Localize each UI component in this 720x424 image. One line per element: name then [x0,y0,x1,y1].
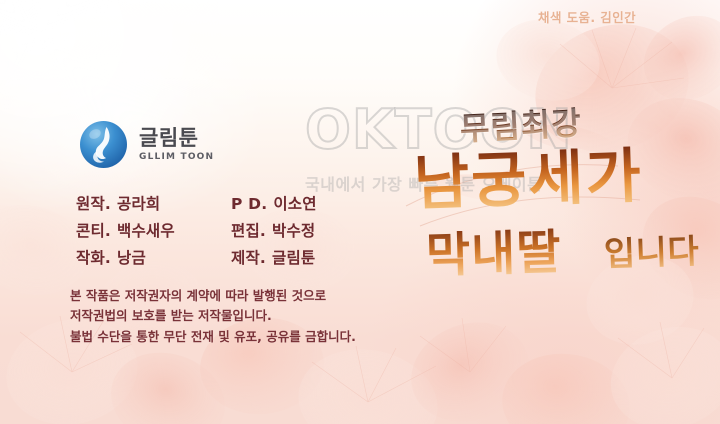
copyright-line-1: 본 작품은 저작권자의 계약에 따라 발행된 것으로 [70,286,356,306]
credit-role-label: 콘티. [76,222,111,240]
credit-name-value: 공라희 [117,195,160,213]
copyright-line-2: 저작권법의 보호를 받는 저작물입니다. [70,306,356,326]
staff-credits: 원작.공라희 P D.이소연 콘티.백수새우 편집.박수정 작화.낭금 제작.글… [76,192,317,268]
credit-row-production: 제작.글림툰 [231,246,317,268]
copyright-line-3: 불법 수단을 통한 무단 전재 및 유포, 공유를 금합니다. [70,327,356,347]
publisher-name-en: GLLIM TOON [139,153,214,162]
credit-name-value: 글림툰 [272,249,315,267]
credit-role-label: 작화. [76,249,111,267]
credits-page: 채색 도움. 김인간 OKTOON 국내에서 가장 빠른 웹툰 오케이툰 [0,0,720,424]
colorist-credit: 채색 도움. 김인간 [538,7,636,26]
credit-name-value: 낭금 [117,249,146,267]
credit-role-label: P D. [231,195,267,213]
publisher-name-ko: 글림툰 [139,128,214,149]
publisher-logo: 글림툰 GLLIM TOON [79,120,214,169]
glimtoon-circle-logo-icon [79,120,128,169]
credit-row-storyboard: 콘티.백수새우 [76,219,231,241]
credit-role-label: 편집. [231,222,266,240]
credit-name-value: 박수정 [272,222,315,240]
credit-row-editor: 편집.박수정 [231,219,317,241]
credit-name-value: 이소연 [273,195,316,213]
copyright-notice: 본 작품은 저작권자의 계약에 따라 발행된 것으로 저작권법의 보호를 받는 … [70,286,356,347]
credit-row-pd: P D.이소연 [231,192,317,214]
publisher-logo-text: 글림툰 GLLIM TOON [139,128,214,162]
credit-role-label: 제작. [231,249,266,267]
credit-row-writer: 원작.공라희 [76,192,231,214]
credit-row-art: 작화.낭금 [76,246,231,268]
credit-name-value: 백수새우 [117,222,175,240]
credit-role-label: 원작. [76,195,111,213]
